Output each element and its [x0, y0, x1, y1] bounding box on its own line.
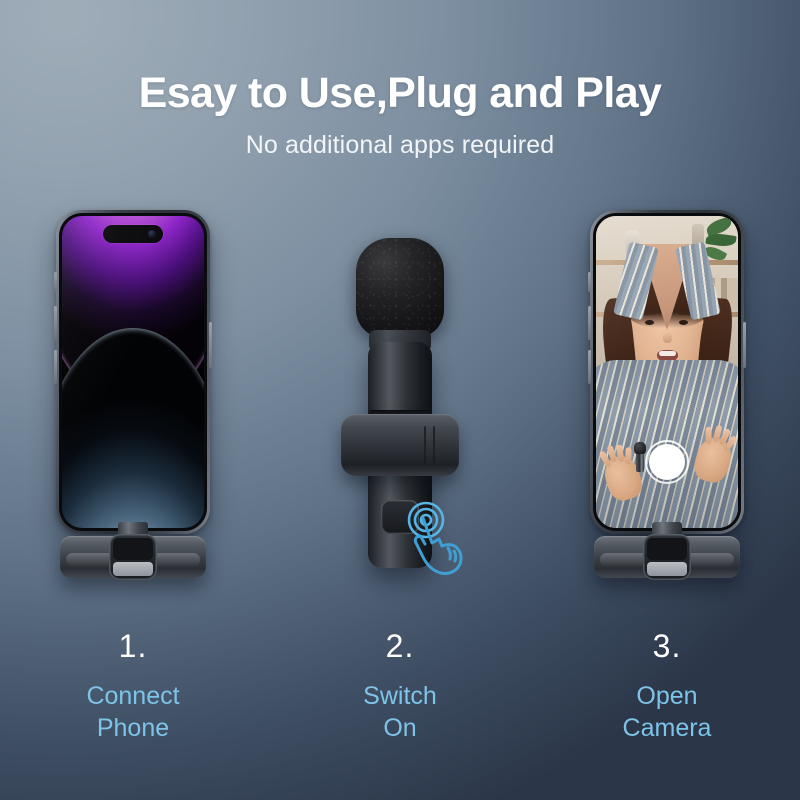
camera-preview: [596, 216, 738, 528]
dongle-center-panel: [109, 534, 157, 580]
page-subtitle: No additional apps required: [0, 131, 800, 160]
clip-groove-1: [433, 426, 436, 464]
foam-texture: [356, 238, 444, 338]
nose: [663, 332, 672, 343]
step-3-label-line2: Camera: [534, 712, 800, 744]
step-1-label-line1: Connect: [0, 680, 266, 712]
phone-silent-switch-3: [588, 272, 591, 292]
phone-device-1: [56, 210, 210, 534]
camera-shutter-button[interactable]: [645, 440, 689, 484]
eye-right: [679, 320, 688, 325]
phone-power-button: [209, 322, 212, 368]
phone-volume-down-button: [54, 350, 57, 384]
microphone-windscreen: [356, 238, 444, 338]
steps-caption-row: 1. Connect Phone 2. Switch On 3. Open Ca…: [0, 630, 800, 780]
phone-power-button-3: [743, 322, 746, 368]
dongle-panel-light: [113, 562, 153, 576]
step-3-number: 3.: [534, 630, 800, 662]
step-1-number: 1.: [0, 630, 266, 662]
step-1-visual: [0, 190, 266, 590]
step-2-label-line2: On: [267, 712, 533, 744]
page-title: Esay to Use,Plug and Play: [0, 70, 800, 117]
receiver-dongle-3: [594, 522, 740, 578]
shutter-core: [649, 444, 685, 480]
dongle-panel-dark-3: [647, 538, 687, 560]
phone-bezel-3: [593, 213, 741, 531]
lav-mic-body: [636, 454, 644, 472]
step-1-caption: 1. Connect Phone: [0, 630, 266, 744]
step-3-caption: 3. Open Camera: [534, 630, 800, 744]
step-2-label: Switch On: [267, 680, 533, 744]
step-2-label-line1: Switch: [267, 680, 533, 712]
phone-bezel-1: [59, 213, 207, 531]
product-feature-poster: Esay to Use,Plug and Play No additional …: [0, 0, 800, 800]
step-1-label: Connect Phone: [0, 680, 266, 744]
dynamic-island: [103, 225, 163, 243]
microphone-clip: [341, 414, 459, 476]
lavalier-microphone: [340, 238, 460, 568]
purple-wallpaper: [62, 216, 204, 528]
step-3-label-line1: Open: [534, 680, 800, 712]
wallpaper-bottom-orb-rim: [62, 328, 204, 528]
phone-volume-up-button-3: [588, 306, 591, 340]
step-3-visual: [534, 190, 800, 590]
steps-illustration-row: [0, 190, 800, 590]
step-2-number: 2.: [267, 630, 533, 662]
step-2-visual: [267, 190, 533, 590]
person-subject: [596, 246, 738, 528]
finger-r1: [706, 427, 712, 444]
step-3-label: Open Camera: [534, 680, 800, 744]
phone-volume-up-button: [54, 306, 57, 340]
dongle-panel-dark: [113, 538, 153, 560]
front-camera-icon: [148, 230, 156, 238]
phone-screen-3: [596, 216, 738, 528]
dongle-panel-light-3: [647, 562, 687, 576]
phone-device-3: [590, 210, 744, 534]
tap-hand-icon: [392, 494, 484, 580]
headline-block: Esay to Use,Plug and Play No additional …: [0, 70, 800, 160]
finger-l4: [625, 447, 631, 464]
step-2-caption: 2. Switch On: [267, 630, 533, 744]
eye-left: [645, 320, 654, 325]
dongle-center-panel-3: [643, 534, 691, 580]
phone-screen-1: [62, 216, 204, 528]
clip-groove-2: [424, 426, 427, 464]
phone-silent-switch: [54, 272, 57, 292]
teeth: [659, 351, 676, 356]
receiver-dongle-1: [60, 522, 206, 578]
step-1-label-line2: Phone: [0, 712, 266, 744]
phone-volume-down-button-3: [588, 350, 591, 384]
